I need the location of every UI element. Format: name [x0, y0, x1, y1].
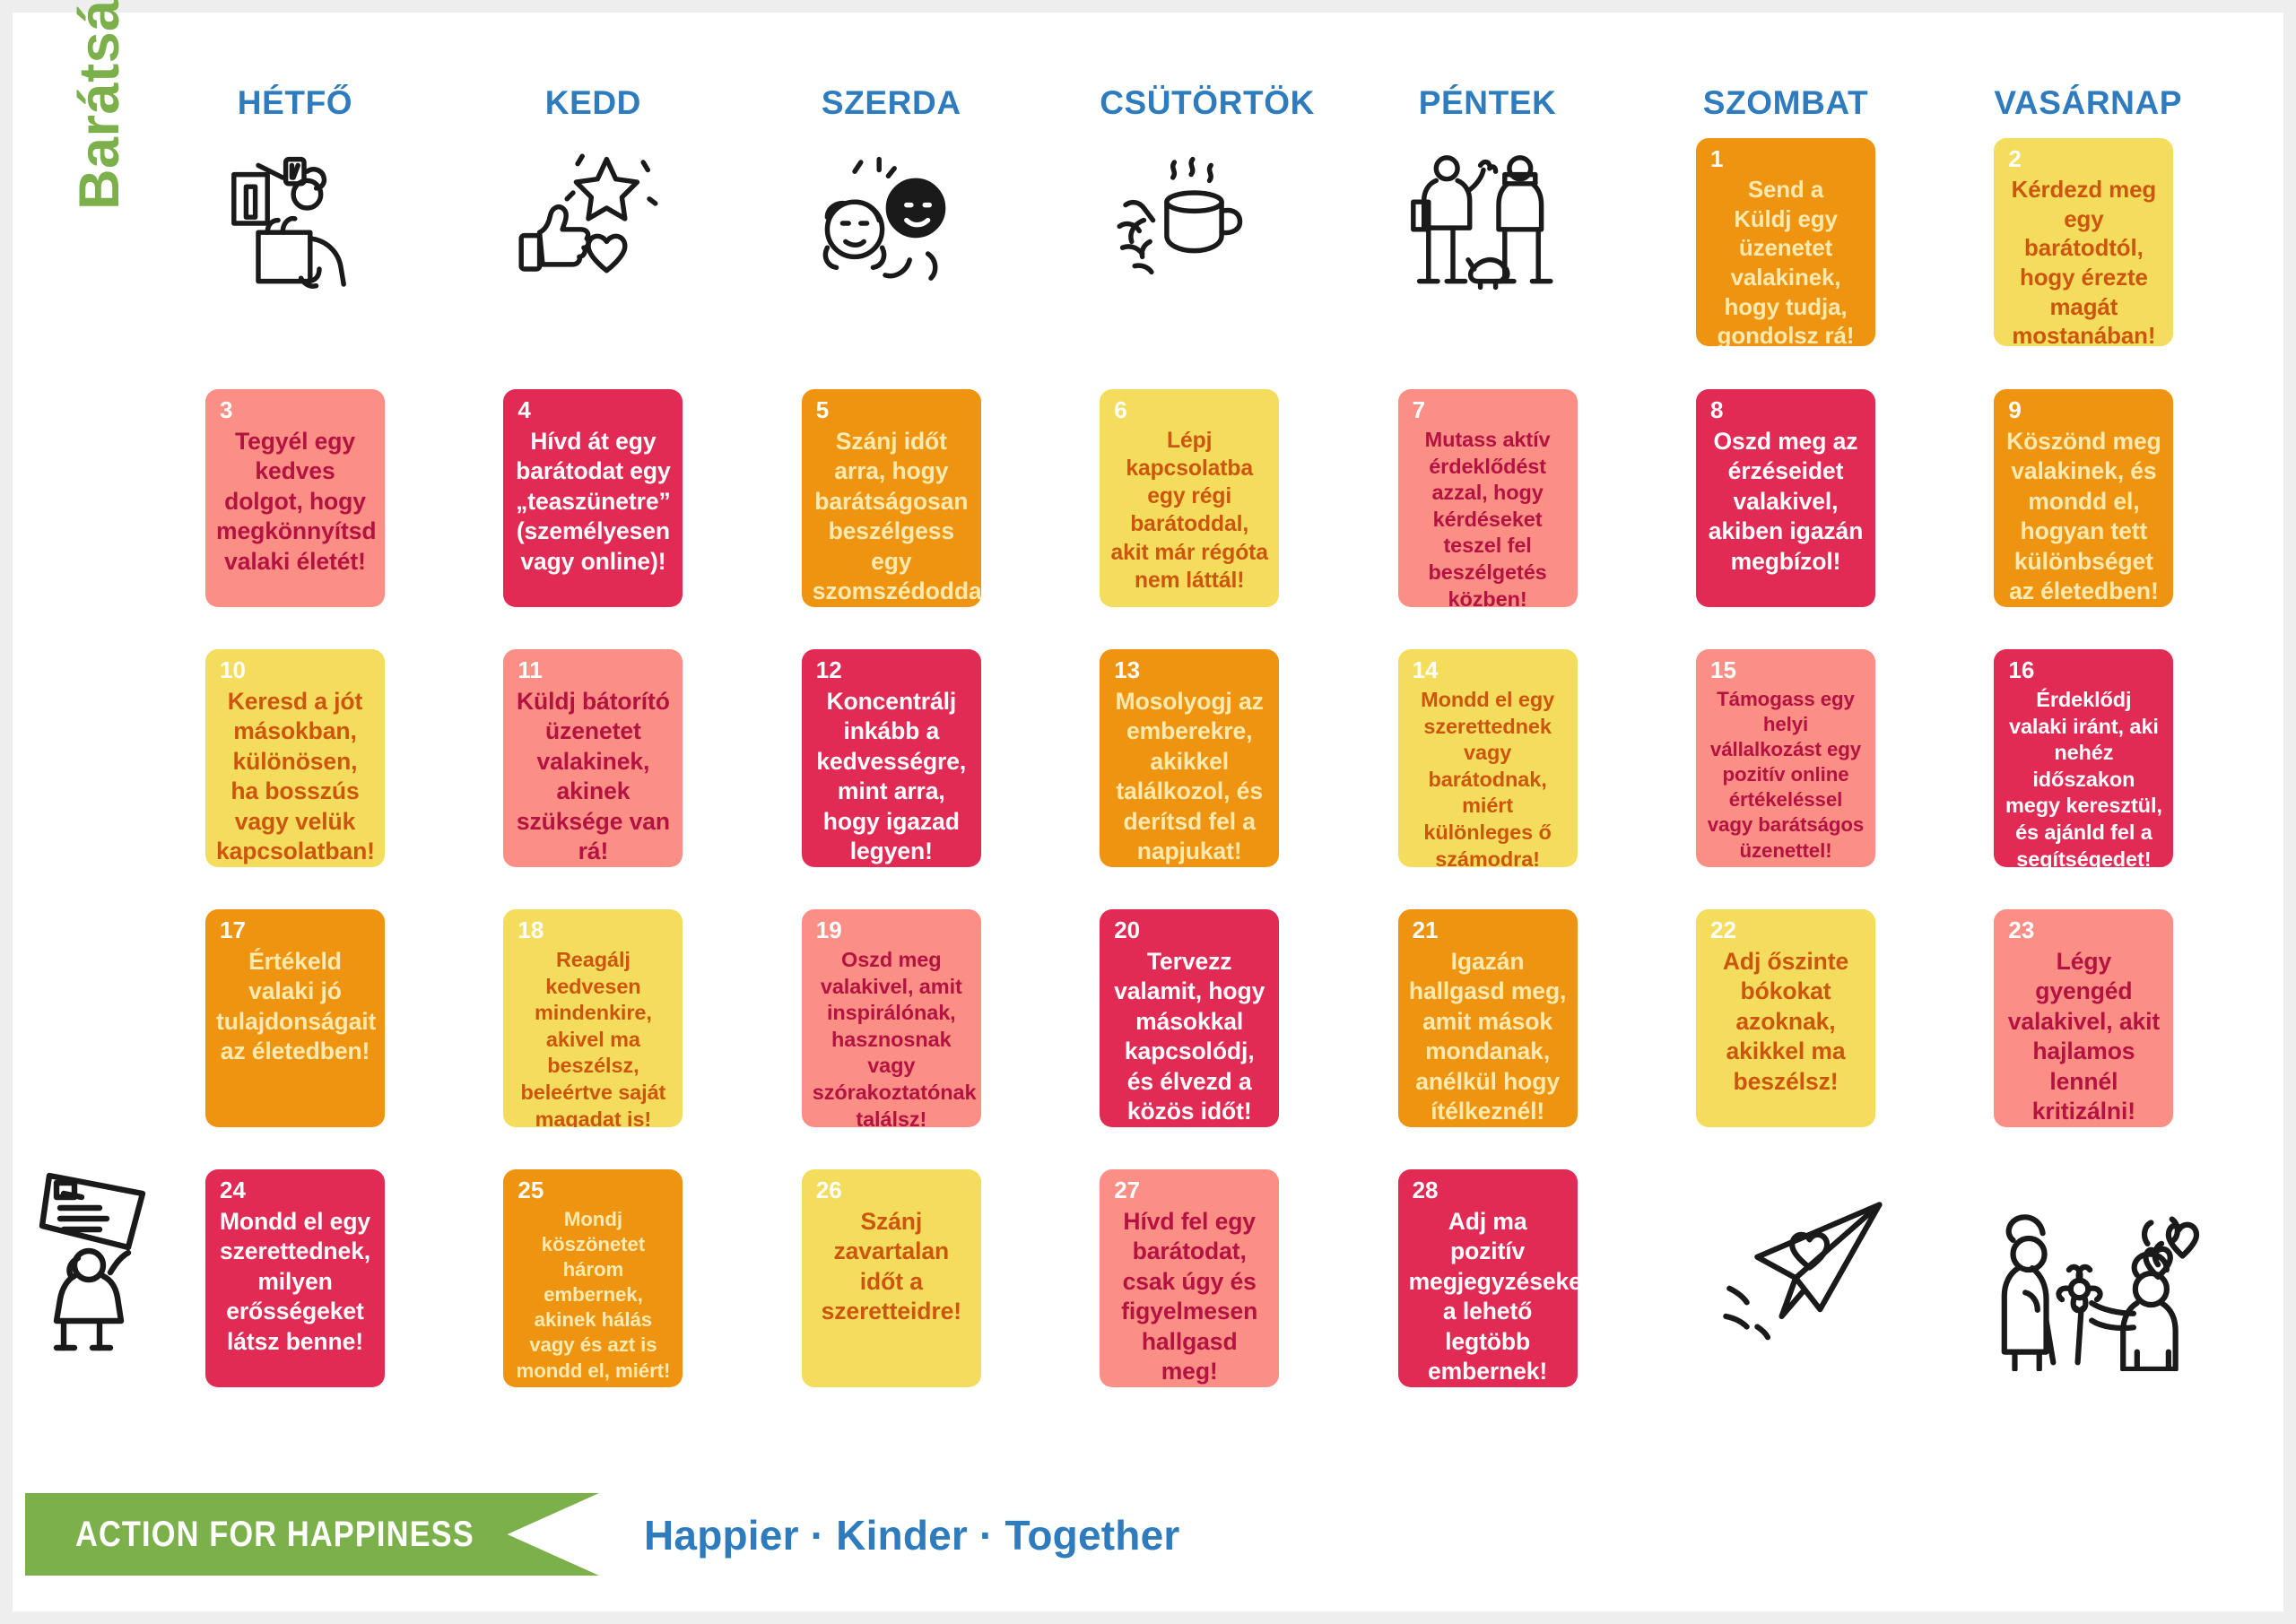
day-cell-9[interactable]: 9Köszönd meg valakinek, és mondd el, hog…	[1994, 389, 2173, 607]
day-cell-8[interactable]: 8Oszd meg az érzéseidet valakivel, akibe…	[1696, 389, 1875, 607]
day-number: 21	[1413, 918, 1439, 942]
day-cell-6[interactable]: 6Lépj kapcsolatba egy régi barátoddal, a…	[1100, 389, 1279, 607]
day-cell-3[interactable]: 3Tegyél egy kedves dolgot, hogy megkönny…	[205, 389, 385, 607]
day-cell-4[interactable]: 4Hívd át egy barátodat egy „teaszünetre”…	[503, 389, 683, 607]
day-action-text: Érdeklődj valaki iránt, aki nehéz idősza…	[2005, 687, 2162, 867]
day-cell-2[interactable]: 2Kérdezd meg egy barátodtól, hogy érezte…	[1994, 138, 2173, 346]
day-action-text: Légy gyengéd valakivel, akit hajlamos le…	[2005, 947, 2162, 1126]
day-cell-21[interactable]: 21Igazán hallgasd meg, amit mások mondan…	[1398, 909, 1578, 1127]
page-title: Barátságos február 2025	[59, 0, 140, 210]
day-number: 17	[220, 918, 246, 942]
day-cell-7[interactable]: 7Mutass aktív érdeklődést azzal, hogy ké…	[1398, 389, 1578, 607]
day-action-text: Oszd meg az érzéseidet valakivel, akiben…	[1707, 427, 1865, 577]
day-cell-10[interactable]: 10Keresd a jót másokban, különösen, ha b…	[205, 649, 385, 867]
day-action-text: Támogass egy helyi vállalkozást egy pozi…	[1707, 687, 1865, 864]
day-action-text: Tegyél egy kedves dolgot, hogy megkönnyí…	[216, 427, 374, 577]
two-smiling-faces-illustration	[809, 147, 961, 300]
day-cell-24[interactable]: 24Mondd el egy szerettednek, milyen erős…	[205, 1169, 385, 1387]
day-cell-15[interactable]: 15Támogass egy helyi vállalkozást egy po…	[1696, 649, 1875, 867]
column-header-3: SZERDA	[802, 84, 981, 122]
day-number: 14	[1413, 658, 1439, 682]
neighbours-greeting-with-dog-illustration	[1407, 147, 1560, 300]
day-action-text: Szánj zavartalan időt a szeretteidre!	[813, 1207, 970, 1327]
banner-label: ACTION FOR HAPPINESS	[75, 1515, 474, 1555]
column-header-7: VASÁRNAP	[1994, 84, 2173, 122]
thumbs-up-star-heart-illustration	[512, 147, 665, 300]
day-action-text: Értékeld valaki jó tulajdonságait az éle…	[216, 947, 374, 1067]
day-action-text: Reagálj kedvesen mindenkire, akivel ma b…	[514, 947, 672, 1127]
hands-passing-hot-mug-illustration	[1110, 147, 1263, 300]
calendar-page: Barátságos február 2025 HÉTFŐKEDDSZERDAC…	[0, 0, 2296, 1624]
column-header-4: CSÜTÖRTÖK	[1100, 84, 1279, 122]
day-action-text: Kérdezd meg egy barátodtól, hogy érezte …	[2005, 176, 2162, 346]
day-cell-5[interactable]: 5Szánj időt arra, hogy barátságosan besz…	[802, 389, 981, 607]
day-action-text: Mondd el egy szerettednek vagy barátodna…	[1409, 687, 1567, 867]
day-cell-28[interactable]: 28Adj ma pozitív megjegyzéseket a lehető…	[1398, 1169, 1578, 1387]
day-cell-27[interactable]: 27Hívd fel egy barátodat, csak úgy és fi…	[1100, 1169, 1279, 1387]
day-number: 6	[1114, 398, 1126, 421]
day-cell-25[interactable]: 25Mondj köszönetet három embernek, akine…	[503, 1169, 683, 1387]
day-number: 27	[1114, 1178, 1140, 1202]
day-action-text: Mutass aktív érdeklődést azzal, hogy kér…	[1409, 427, 1567, 607]
day-action-text: Szánj időt arra, hogy barátságosan beszé…	[813, 427, 970, 606]
day-cell-20[interactable]: 20Tervezz valamit, hogy másokkal kapcsol…	[1100, 909, 1279, 1127]
column-header-5: PÉNTEK	[1398, 84, 1578, 122]
day-number: 22	[1710, 918, 1736, 942]
day-action-text: Mondj köszönetet három embernek, akinek …	[514, 1207, 672, 1384]
footer: ACTION FOR HAPPINESS Happier · Kinder · …	[25, 1493, 2294, 1592]
day-cell-23[interactable]: 23Légy gyengéd valakivel, akit hajlamos …	[1994, 909, 2173, 1127]
day-number: 10	[220, 658, 246, 682]
day-cell-1[interactable]: 1Send a Küldj egy üzenetet valakinek, ho…	[1696, 138, 1875, 346]
day-cell-19[interactable]: 19Oszd meg valakivel, amit inspirálónak,…	[802, 909, 981, 1127]
day-number: 8	[1710, 398, 1723, 421]
day-number: 25	[517, 1178, 544, 1202]
day-cell-13[interactable]: 13Mosolyogj az emberekre, akikkel találk…	[1100, 649, 1279, 867]
day-number: 4	[517, 398, 530, 421]
day-cell-17[interactable]: 17Értékeld valaki jó tulajdonságait az é…	[205, 909, 385, 1127]
day-number: 19	[816, 918, 842, 942]
day-cell-22[interactable]: 22Adj őszinte bókokat azoknak, akikkel m…	[1696, 909, 1875, 1127]
day-number: 2	[2008, 147, 2021, 170]
day-action-text: Adj őszinte bókokat azoknak, akikkel ma …	[1707, 947, 1865, 1097]
person-reading-letter-illustration	[35, 1165, 214, 1353]
day-number: 5	[816, 398, 829, 421]
day-action-text: Oszd meg valakivel, amit inspirálónak, h…	[813, 947, 970, 1127]
day-number: 9	[2008, 398, 2021, 421]
day-cell-11[interactable]: 11Küldj bátorító üzenetet valakinek, aki…	[503, 649, 683, 867]
day-number: 16	[2008, 658, 2034, 682]
day-action-text: Küldj bátorító üzenetet valakinek, akine…	[514, 687, 672, 866]
day-number: 24	[220, 1178, 246, 1202]
day-action-text: Mosolyogj az emberekre, akikkel találkoz…	[1110, 687, 1268, 866]
day-number: 11	[517, 658, 543, 682]
tagline: Happier · Kinder · Together	[644, 1511, 1179, 1559]
day-action-text: Igazán hallgasd meg, amit mások mondanak…	[1409, 947, 1567, 1126]
day-number: 15	[1710, 658, 1736, 682]
day-action-text: Send a Küldj egy üzenetet valakinek, hog…	[1707, 176, 1865, 346]
day-number: 26	[816, 1178, 842, 1202]
day-action-text: Adj ma pozitív megjegyzéseket a lehető l…	[1409, 1207, 1567, 1386]
day-action-text: Köszönd meg valakinek, és mondd el, hogy…	[2005, 427, 2162, 606]
day-number: 28	[1413, 1178, 1439, 1202]
day-number: 13	[1114, 658, 1140, 682]
day-number: 12	[816, 658, 842, 682]
day-action-text: Keresd a jót másokban, különösen, ha bos…	[216, 687, 374, 866]
day-number: 18	[517, 918, 544, 942]
day-number: 7	[1413, 398, 1425, 421]
day-cell-26[interactable]: 26Szánj zavartalan időt a szeretteidre!	[802, 1169, 981, 1387]
day-number: 3	[220, 398, 232, 421]
man-carrying-grocery-bag-illustration	[213, 147, 365, 300]
day-cell-16[interactable]: 16Érdeklődj valaki iránt, aki nehéz idős…	[1994, 649, 2173, 867]
day-cell-18[interactable]: 18Reagálj kedvesen mindenkire, akivel ma…	[503, 909, 683, 1127]
day-cell-14[interactable]: 14Mondd el egy szerettednek vagy barátod…	[1398, 649, 1578, 867]
day-action-text: Mondd el egy szerettednek, milyen erőssé…	[216, 1207, 374, 1357]
calendar-grid: HÉTFŐKEDDSZERDACSÜTÖRTÖKPÉNTEKSZOMBATVAS…	[205, 84, 2295, 1492]
paper-plane-with-heart-illustration	[1718, 1187, 1911, 1344]
action-for-happiness-banner: ACTION FOR HAPPINESS	[25, 1493, 599, 1576]
day-number: 23	[2008, 918, 2034, 942]
day-cell-12[interactable]: 12Koncentrálj inkább a kedvességre, mint…	[802, 649, 981, 867]
day-action-text: Hívd át egy barátodat egy „teaszünetre” …	[514, 427, 672, 577]
day-action-text: Koncentrálj inkább a kedvességre, mint a…	[813, 687, 970, 866]
column-header-2: KEDD	[503, 84, 683, 122]
column-header-6: SZOMBAT	[1696, 84, 1875, 122]
column-header-1: HÉTFŐ	[205, 84, 385, 122]
day-action-text: Lépj kapcsolatba egy régi barátoddal, ak…	[1110, 427, 1268, 595]
day-action-text: Hívd fel egy barátodat, csak úgy és figy…	[1110, 1207, 1268, 1386]
day-number: 1	[1710, 147, 1723, 170]
child-giving-flower-to-elder-illustration	[1980, 1205, 2213, 1371]
day-action-text: Tervezz valamit, hogy másokkal kapcsolód…	[1110, 947, 1268, 1126]
day-number: 20	[1114, 918, 1140, 942]
